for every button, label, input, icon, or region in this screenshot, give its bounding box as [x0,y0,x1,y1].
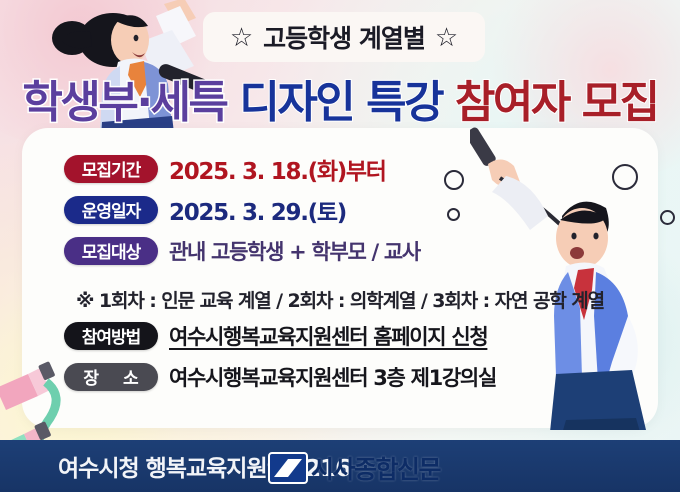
value-operation-date: 2025. 3. 29.(토) [169,193,346,227]
title-part-design-lecture: 디자인 특강 [239,77,442,128]
footer-office-name: 여수시청 행복교육지원 [58,456,267,482]
info-rows: 모집기간 2025. 3. 18.(화)부터 운영일자 2025. 3. 29.… [0,148,680,397]
info-row-how-to-apply: 참여방법 여수시행복교육지원센터 홈페이지 신청 [0,315,680,356]
label-target: 모집대상 [64,237,158,265]
info-row-venue: 장 소 여수시행복교육지원센터 3층 제1강의실 [0,356,680,397]
value-recruit-period: 2025. 3. 18.(화)부터 [169,152,386,186]
open-book-icon [268,451,308,485]
value-target: 관내 고등학생 + 학부모 / 교사 [169,236,420,266]
sub-title-text: 고등학생 계열별 [263,19,425,55]
star-right-icon: ☆ [435,24,458,50]
label-how-to-apply: 참여방법 [64,322,158,350]
watermark-text: 시사종합신문 [311,450,440,486]
label-operation-date: 운영일자 [64,196,158,224]
poster-root: ☆ 고등학생 계열별 ☆ 학생부·세특 디자인 특강 참여자 모집 [0,0,680,492]
watermark: 시사종합신문 [268,450,440,486]
course-note: ※ 1회차 : 인문 교육 계열 / 2회차 : 의학계열 / 3회차 : 자연… [0,286,680,313]
value-venue: 여수시행복교육지원센터 3층 제1강의실 [169,362,496,392]
value-how-to-apply: 여수시행복교육지원센터 홈페이지 신청 [169,321,487,351]
sub-title-banner: ☆ 고등학생 계열별 ☆ [203,12,485,62]
star-left-icon: ☆ [230,24,253,50]
info-row-target: 모집대상 관내 고등학생 + 학부모 / 교사 [0,230,680,271]
info-row-operation-date: 운영일자 2025. 3. 29.(토) [0,189,680,230]
label-recruit-period: 모집기간 [64,155,158,183]
title-part-student-record: 학생부·세특 [22,77,226,128]
info-row-recruit-period: 모집기간 2025. 3. 18.(화)부터 [0,148,680,189]
